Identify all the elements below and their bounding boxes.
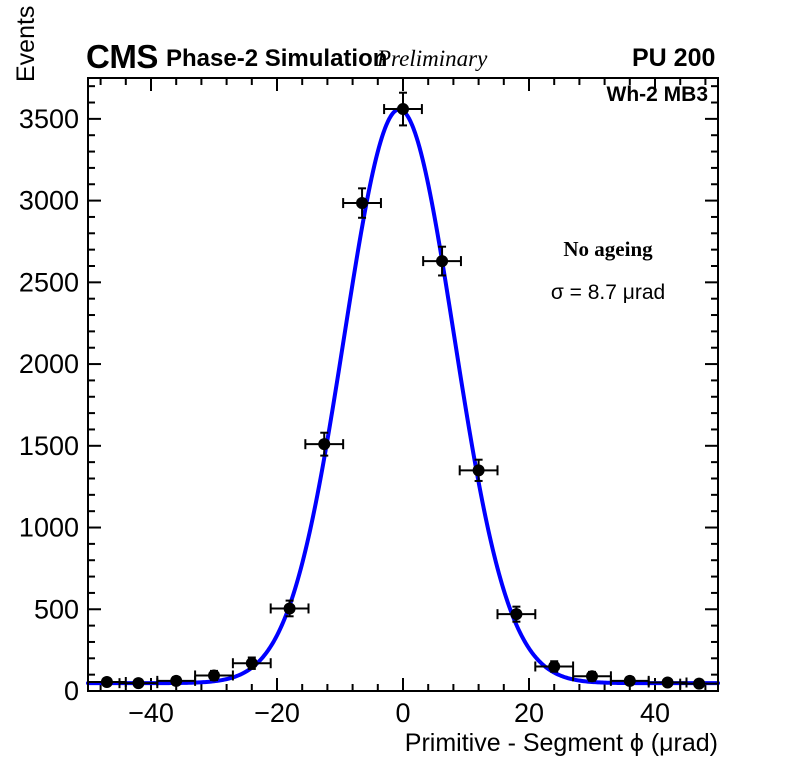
x-axis-title: Primitive - Segment ϕ (μrad) — [405, 729, 718, 757]
x-axis-tick-labels: −40−2002040 — [128, 698, 670, 728]
y-tick-label: 1500 — [19, 431, 79, 461]
y-tick-label: 3000 — [19, 186, 79, 216]
major-tick-marks — [88, 78, 718, 691]
plot-frame — [88, 78, 718, 691]
y-tick-label: 2000 — [19, 349, 79, 379]
y-tick-label: 0 — [64, 676, 79, 706]
sigma-annotation: σ = 8.7 μrad — [551, 281, 665, 304]
chart-canvas: CMS Phase-2 Simulation Preliminary PU 20… — [0, 0, 796, 772]
data-point — [233, 657, 271, 669]
histogram-plot: −40−2002040 0500100015002000250030003500… — [0, 0, 796, 772]
y-tick-label: 500 — [34, 594, 79, 624]
data-point — [271, 601, 309, 617]
data-point — [343, 188, 381, 217]
ageing-annotation: No ageing — [563, 237, 653, 261]
x-tick-label: −20 — [254, 698, 300, 728]
y-axis-title: Events — [12, 6, 40, 82]
y-tick-label: 1000 — [19, 513, 79, 543]
minor-tick-marks — [88, 78, 718, 691]
data-point — [498, 607, 536, 622]
x-tick-label: 0 — [395, 698, 410, 728]
y-tick-label: 2500 — [19, 267, 79, 297]
data-point-markers — [88, 93, 718, 690]
x-tick-label: 20 — [514, 698, 544, 728]
gaussian-fit-curve — [88, 109, 718, 683]
x-tick-label: 40 — [640, 698, 670, 728]
data-point — [423, 247, 461, 276]
y-axis-tick-labels: 0500100015002000250030003500 — [19, 104, 79, 706]
data-point — [305, 433, 343, 456]
x-tick-label: −40 — [128, 698, 174, 728]
data-point — [460, 460, 498, 481]
region-annotation: Wh-2 MB3 — [607, 83, 709, 106]
y-tick-label: 3500 — [19, 104, 79, 134]
